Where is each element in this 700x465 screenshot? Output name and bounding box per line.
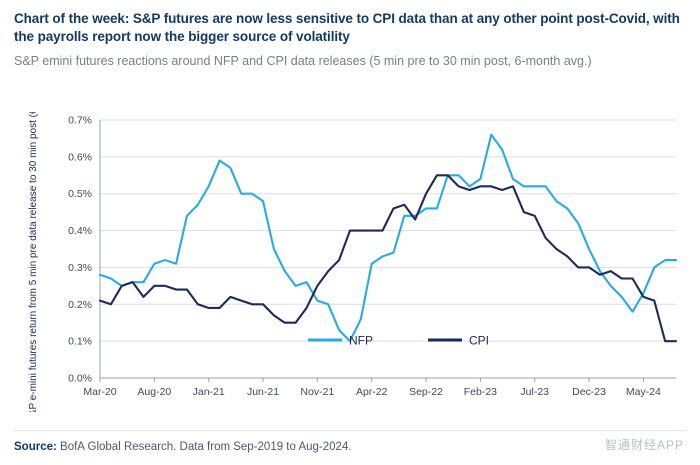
source-note: Source: BofA Global Research. Data from … xyxy=(14,441,352,453)
x-tick-label: Jan-21 xyxy=(193,386,225,398)
y-tick-label: 0.0% xyxy=(68,373,92,385)
page-subtitle: S&P emini futures reactions around NFP a… xyxy=(14,53,686,69)
x-tick-label: Sep-22 xyxy=(409,386,443,398)
chart-page: Chart of the week: S&P futures are now l… xyxy=(0,0,700,465)
legend-label-cpi: CPI xyxy=(469,334,489,348)
y-tick-label: 0.7% xyxy=(68,115,92,127)
chart-container: 0.0%0.1%0.2%0.3%0.4%0.5%0.6%0.7%Mar-20Au… xyxy=(14,112,686,412)
watermark: 智通财经APP xyxy=(605,436,684,453)
series-line-nfp xyxy=(100,135,676,341)
x-tick-label: Nov-21 xyxy=(300,386,334,398)
source-text: BofA Global Research. Data from Sep-2019… xyxy=(57,441,352,453)
x-tick-label: Apr-22 xyxy=(356,386,388,398)
line-chart: 0.0%0.1%0.2%0.3%0.4%0.5%0.6%0.7%Mar-20Au… xyxy=(14,112,686,412)
y-tick-label: 0.2% xyxy=(68,299,92,311)
y-tick-label: 0.3% xyxy=(68,262,92,274)
series-line-cpi xyxy=(100,175,676,341)
y-tick-label: 0.5% xyxy=(68,188,92,200)
y-tick-label: 0.6% xyxy=(68,151,92,163)
x-tick-label: Aug-20 xyxy=(137,386,171,398)
y-tick-label: 0.4% xyxy=(68,225,92,237)
legend-label-nfp: NFP xyxy=(349,334,373,348)
y-axis-label: S&P e-mini futures return from 5 min pre… xyxy=(28,112,39,412)
x-tick-label: Feb-23 xyxy=(464,386,497,398)
x-tick-label: Jul-23 xyxy=(520,386,549,398)
x-tick-label: May-24 xyxy=(626,386,661,398)
source-label: Source: xyxy=(14,441,57,453)
x-tick-label: Dec-23 xyxy=(572,386,606,398)
page-title: Chart of the week: S&P futures are now l… xyxy=(14,10,686,46)
y-tick-label: 0.1% xyxy=(68,336,92,348)
x-tick-label: Jun-21 xyxy=(247,386,279,398)
x-tick-label: Mar-20 xyxy=(83,386,116,398)
footer-divider xyxy=(14,430,686,431)
